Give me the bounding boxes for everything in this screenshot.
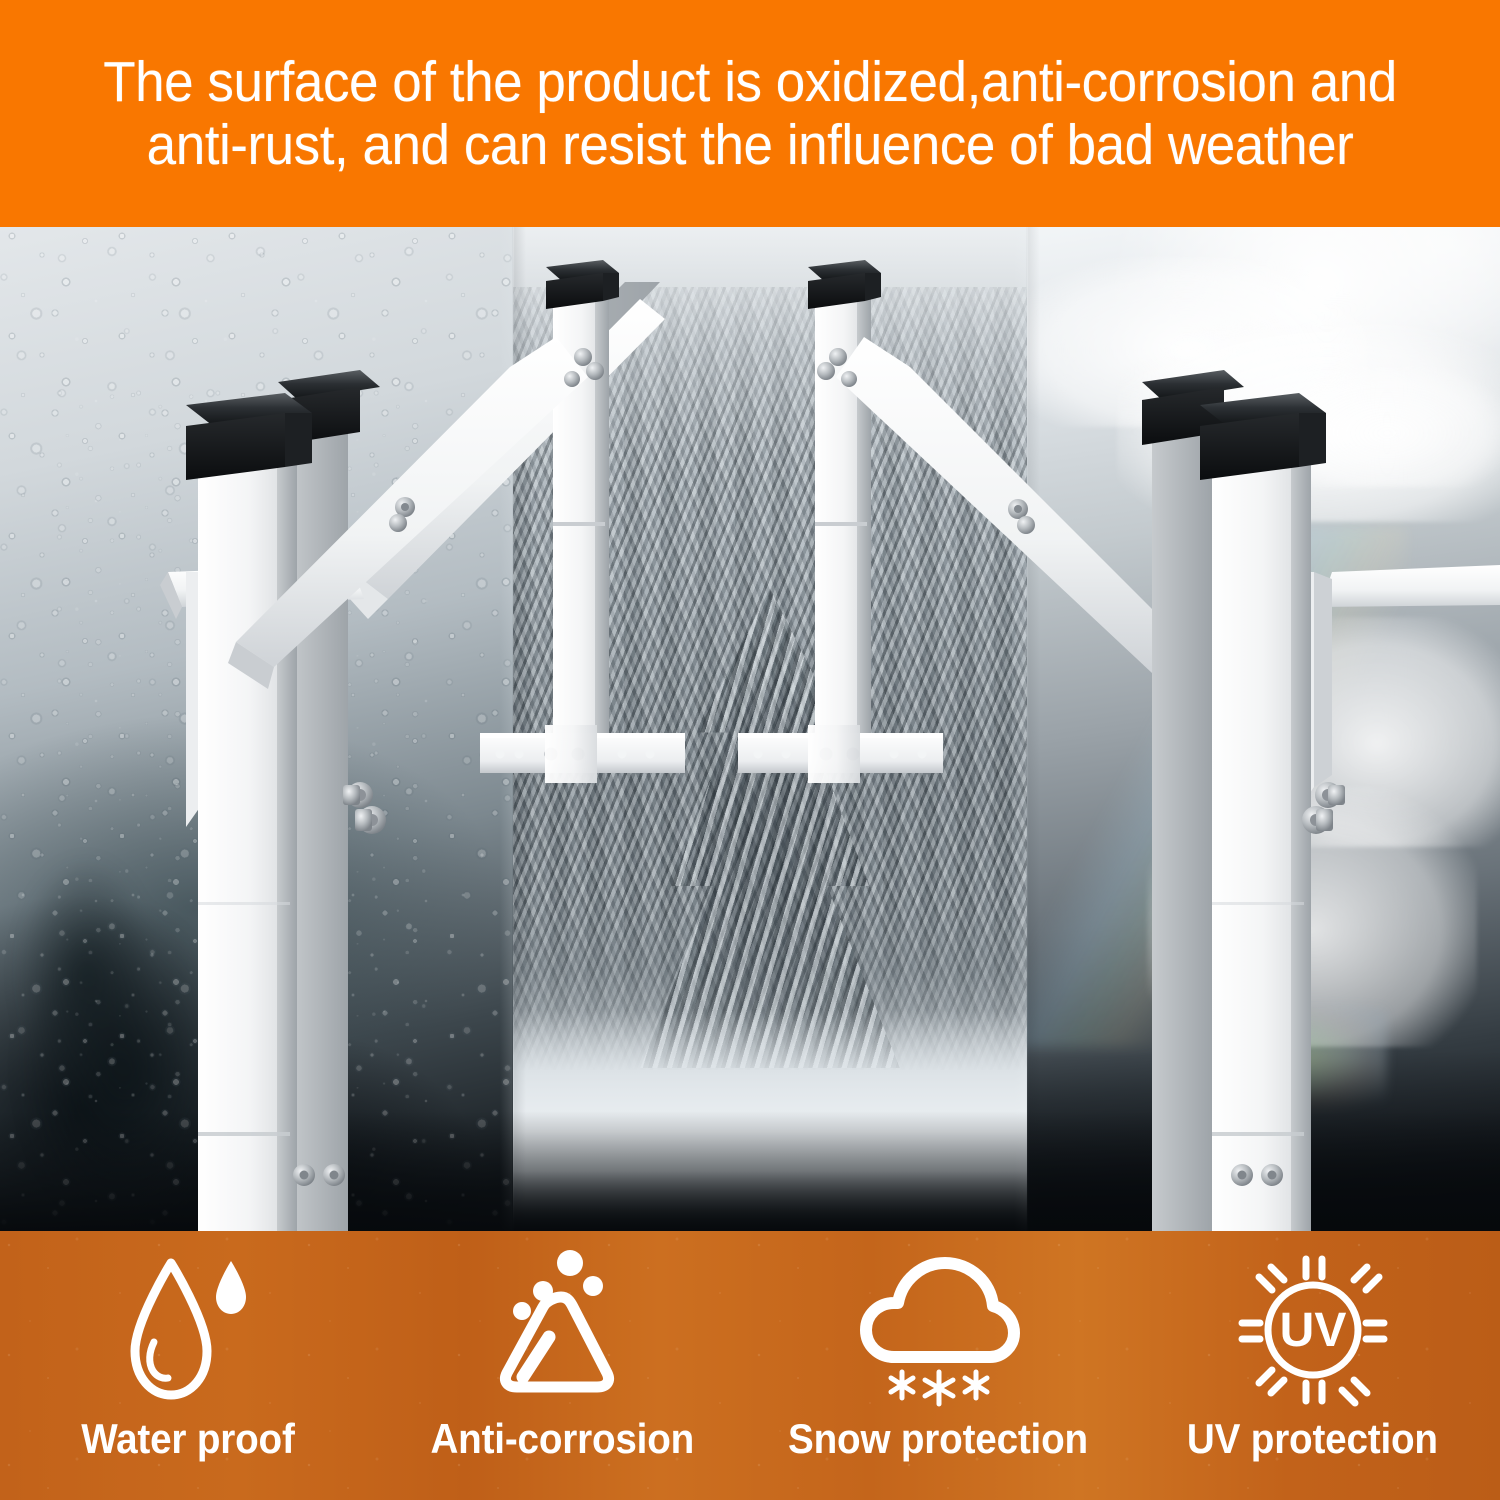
corrosion-pile-icon xyxy=(483,1249,643,1409)
headline-text: The surface of the product is oxidized,a… xyxy=(53,51,1448,176)
feature-label: Water proof xyxy=(81,1415,294,1463)
product-photo-area xyxy=(0,227,1500,1231)
bolt-cluster-left xyxy=(343,782,386,834)
feature-list: Water proof Anti-corrosion xyxy=(0,1231,1500,1500)
bracket-assemblies xyxy=(0,227,1500,1231)
bracket-arm-mid-right xyxy=(738,260,1198,783)
bracket-right xyxy=(1036,370,1500,1231)
feature-item-water-proof: Water proof xyxy=(0,1231,375,1500)
uv-icon-text: UV xyxy=(1279,1304,1346,1357)
uv-sun-icon: UV xyxy=(1228,1249,1398,1409)
product-feature-page: The surface of the product is oxidized,a… xyxy=(0,0,1500,1500)
feature-item-anti-corrosion: Anti-corrosion xyxy=(375,1231,750,1500)
feature-label: UV protection xyxy=(1187,1415,1438,1463)
t-plate-mid-right xyxy=(738,725,943,783)
feature-item-uv-protection: UV UV protection xyxy=(1125,1231,1500,1500)
feature-banner: Water proof Anti-corrosion xyxy=(0,1231,1500,1500)
water-drop-icon xyxy=(113,1249,263,1409)
feature-label: Snow protection xyxy=(788,1415,1088,1463)
headline-banner: The surface of the product is oxidized,a… xyxy=(0,0,1500,227)
feature-item-snow-protection: Snow protection xyxy=(750,1231,1125,1500)
t-plate-mid-left xyxy=(480,725,685,783)
snow-cloud-icon xyxy=(850,1249,1025,1409)
feature-label: Anti-corrosion xyxy=(431,1415,695,1463)
